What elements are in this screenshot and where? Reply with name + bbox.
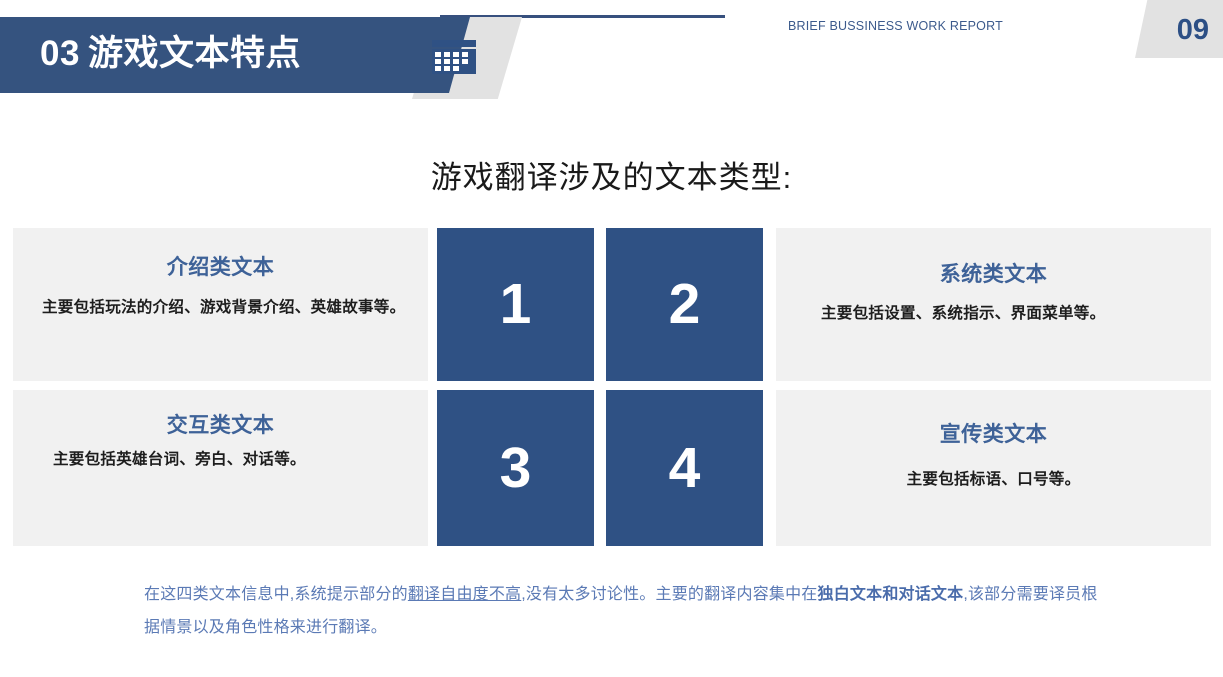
- note-part-2: ,没有太多讨论性。主要的翻译内容集中在: [521, 586, 817, 603]
- card-body: 主要包括标语、口号等。: [776, 464, 1211, 495]
- brand-label: BRIEF BUSSINESS WORK REPORT: [788, 19, 1003, 33]
- card-system-text: 系统类文本 主要包括设置、系统指示、界面菜单等。: [776, 228, 1211, 381]
- section-header-title: 03游戏文本特点: [40, 32, 301, 76]
- calendar-grid-icon: [432, 40, 476, 74]
- note-underlined-phrase: 翻译自由度不高: [408, 586, 521, 603]
- page-number: 09: [1177, 14, 1209, 46]
- card-title: 系统类文本: [776, 258, 1211, 288]
- number-tile-2: 2: [606, 228, 763, 381]
- slide-title: 游戏翻译涉及的文本类型:: [0, 152, 1223, 197]
- number-tile-1: 1: [437, 228, 594, 381]
- note-bold-phrase: 独白文本和对话文本: [818, 586, 964, 603]
- text-type-grid: 介绍类文本 主要包括玩法的介绍、游戏背景介绍、英雄故事等。 1 2 系统类文本 …: [13, 228, 1211, 546]
- card-title: 介绍类文本: [13, 251, 428, 281]
- number-tile-3: 3: [437, 390, 594, 546]
- card-body: 主要包括设置、系统指示、界面菜单等。: [776, 298, 1211, 329]
- section-number: 03: [40, 34, 80, 73]
- note-part-1: 在这四类文本信息中,系统提示部分的: [144, 586, 408, 603]
- card-title: 宣传类文本: [776, 418, 1211, 448]
- card-body: 主要包括英雄台词、旁白、对话等。: [13, 444, 428, 475]
- card-title: 交互类文本: [13, 409, 428, 439]
- card-intro-text: 介绍类文本 主要包括玩法的介绍、游戏背景介绍、英雄故事等。: [13, 228, 428, 381]
- card-interactive-text: 交互类文本 主要包括英雄台词、旁白、对话等。: [13, 390, 428, 546]
- card-body: 主要包括玩法的介绍、游戏背景介绍、英雄故事等。: [13, 292, 428, 323]
- section-title-text: 游戏文本特点: [88, 34, 301, 73]
- summary-note: 在这四类文本信息中,系统提示部分的翻译自由度不高,没有太多讨论性。主要的翻译内容…: [144, 578, 1104, 644]
- number-tile-4: 4: [606, 390, 763, 546]
- card-promotional-text: 宣传类文本 主要包括标语、口号等。: [776, 390, 1211, 546]
